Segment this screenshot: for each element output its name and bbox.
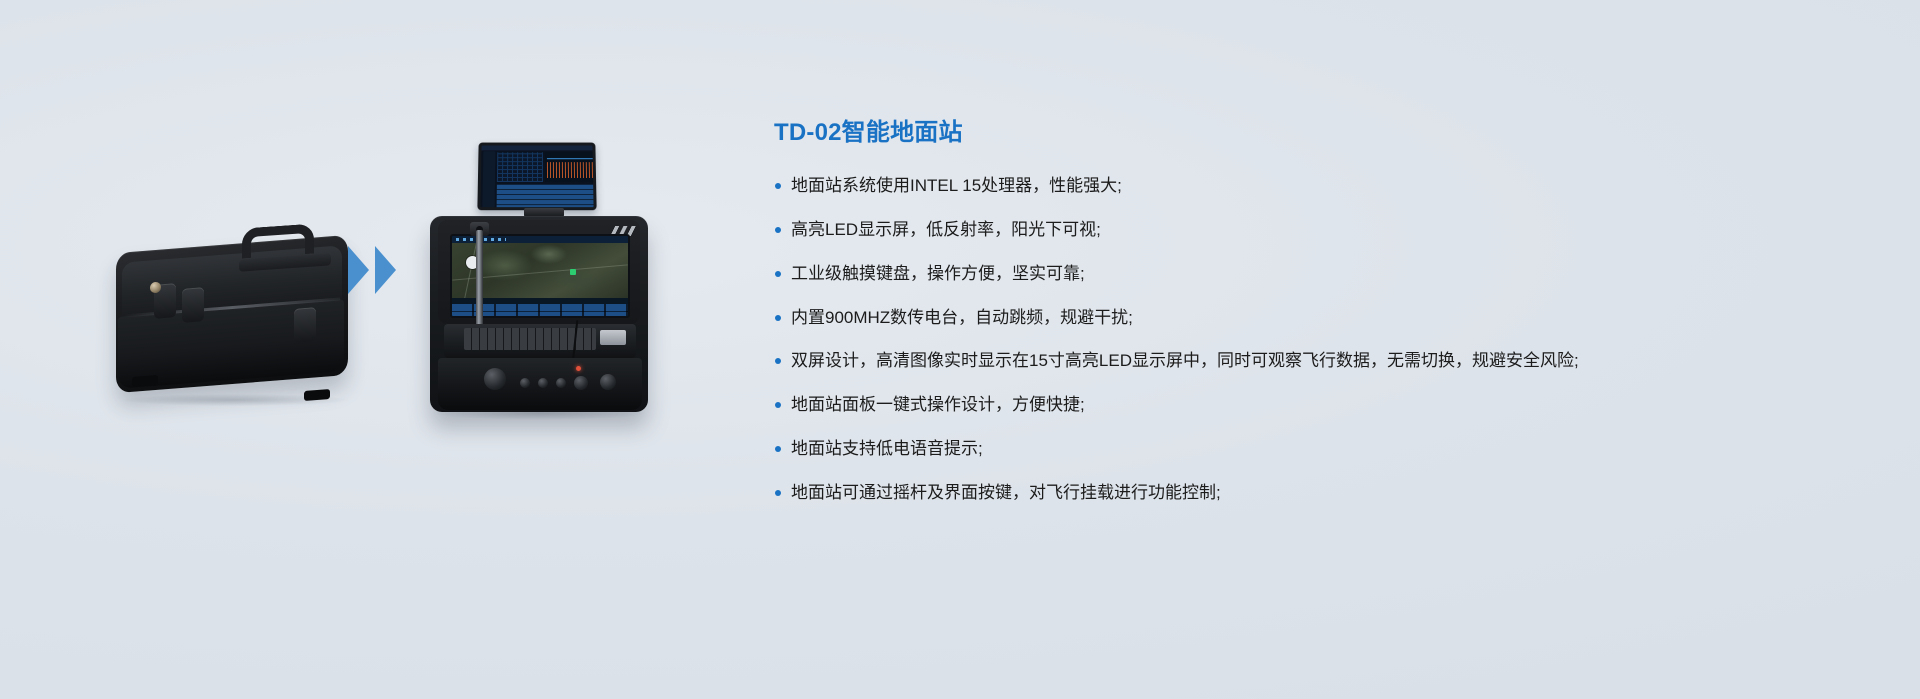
bullet-icon <box>775 490 781 496</box>
chevron-right-icon <box>348 246 369 294</box>
case-handle-icon <box>242 223 314 258</box>
feature-item: 地面站可通过摇杆及界面按键，对飞行挂载进行功能控制; <box>774 480 1834 507</box>
bullet-icon <box>775 227 781 233</box>
feature-item: 高亮LED显示屏，低反射率，阳光下可视; <box>774 217 1834 244</box>
telemetry-display-screen <box>477 143 596 211</box>
feature-text: 高亮LED显示屏，低反射率，阳光下可视; <box>791 220 1101 239</box>
feature-text: 工业级触摸键盘，操作方便，坚实可靠; <box>791 264 1085 283</box>
feature-text: 双屏设计，高清图像实时显示在15寸高亮LED显示屏中，同时可观察飞行数据，无需切… <box>791 351 1579 370</box>
control-knob <box>520 378 530 388</box>
control-knob <box>484 368 506 390</box>
product-description: TD-02智能地面站 地面站系统使用INTEL 15处理器，性能强大; 高亮LE… <box>774 112 1894 524</box>
bullet-icon <box>775 271 781 277</box>
telemetry-data-table <box>497 184 596 209</box>
telemetry-sidebar <box>482 151 495 209</box>
feature-item: 地面站支持低电语音提示; <box>774 436 1834 463</box>
product-showcase: TD-02智能地面站 地面站系统使用INTEL 15处理器，性能强大; 高亮LE… <box>0 0 1920 699</box>
bullet-icon <box>775 183 781 189</box>
aircraft-marker-icon <box>570 269 576 275</box>
telemetry-grid-panel <box>497 152 543 182</box>
trackpad <box>600 330 626 345</box>
case-foot <box>304 389 330 401</box>
bullet-icon <box>775 315 781 321</box>
chevron-right-icon <box>375 246 396 294</box>
feature-text: 地面站支持低电语音提示; <box>791 439 983 458</box>
case-latch <box>294 307 316 343</box>
feature-item: 地面站面板一键式操作设计，方便快捷; <box>774 392 1834 419</box>
bullet-icon <box>775 446 781 452</box>
case-latch <box>182 287 204 323</box>
feature-text: 内置900MHZ数传电台，自动跳频，规避干扰; <box>791 308 1133 327</box>
feature-list: 地面站系统使用INTEL 15处理器，性能强大; 高亮LED显示屏，低反射率，阳… <box>774 173 1894 507</box>
feature-item: 地面站系统使用INTEL 15处理器，性能强大; <box>774 173 1834 200</box>
feature-item: 工业级触摸键盘，操作方便，坚实可靠; <box>774 261 1834 288</box>
control-knob <box>600 374 616 390</box>
product-title: TD-02智能地面站 <box>774 112 1894 147</box>
bullet-icon <box>775 402 781 408</box>
telemetry-titlebar <box>481 145 592 150</box>
feature-text: 地面站可通过摇杆及界面按键，对飞行挂载进行功能控制; <box>791 483 1221 502</box>
ground-station-image <box>424 138 654 418</box>
control-knob <box>556 378 566 388</box>
telemetry-waveform-plot <box>545 152 595 182</box>
feature-text: 地面站面板一键式操作设计，方便快捷; <box>791 395 1085 414</box>
feature-item: 内置900MHZ数传电台，自动跳频，规避干扰; <box>774 305 1834 332</box>
rugged-case-image <box>108 208 358 398</box>
control-knob <box>574 376 588 390</box>
bullet-icon <box>775 358 781 364</box>
status-led-indicator <box>576 366 581 371</box>
feature-item: 双屏设计，高清图像实时显示在15寸高亮LED显示屏中，同时可观察飞行数据，无需切… <box>774 348 1834 375</box>
feature-text: 地面站系统使用INTEL 15处理器，性能强大; <box>791 176 1122 195</box>
control-knob <box>538 378 548 388</box>
case-foot <box>132 375 158 387</box>
double-chevron-arrow-icon <box>348 246 410 294</box>
